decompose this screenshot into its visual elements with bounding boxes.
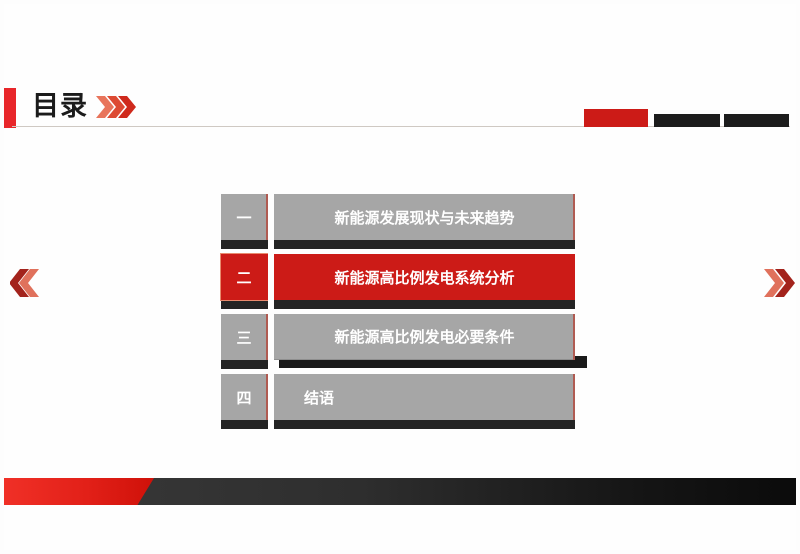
menu-item-3[interactable]: 三 新能源高比例发电必要条件 [221,314,577,360]
number-box-right-edge [266,254,268,300]
footer-bar [4,478,796,505]
text-box-shadow [274,420,575,429]
footer-bar-red-accent [4,478,154,505]
slide-content-area: 目录 [4,4,796,550]
menu-item-4[interactable]: 四 结语 [221,374,577,420]
number-box-shadow [221,360,268,369]
text-box-shadow [274,300,575,309]
text-box-right-edge [573,374,575,420]
number-box-shadow [221,420,268,429]
number-box-shadow [221,240,268,249]
menu-item-number: 一 [221,194,267,240]
menu-item-number: 四 [221,374,267,420]
text-box-right-edge [573,314,575,360]
text-box-right-edge [573,194,575,240]
menu-item-label: 结语 [274,374,575,420]
text-box-right-edge [573,254,575,300]
header-red-tab [4,88,16,128]
title-chevron-right-icon [96,94,138,120]
agenda-menu: 一 新能源发展现状与未来趋势 二 新能源高比例发电系统分析 三 新能源高比例发电 [221,194,577,434]
number-box-right-edge [266,374,268,420]
decoration-block-black-2 [724,114,789,127]
double-chevron-left-icon [10,266,56,300]
menu-item-number: 二 [221,254,267,300]
presentation-slide: 目录 [0,0,800,554]
number-box-right-edge [266,314,268,360]
menu-item-number: 三 [221,314,267,360]
text-box-shadow [274,240,575,249]
number-box-right-edge [266,194,268,240]
double-chevron-right-icon [756,266,796,300]
page-title: 目录 [32,89,88,123]
number-box-shadow [221,300,268,309]
menu-item-label: 新能源高比例发电系统分析 [274,254,575,300]
decoration-block-red [584,109,648,127]
menu-item-1[interactable]: 一 新能源发展现状与未来趋势 [221,194,577,240]
menu-item-label: 新能源发展现状与未来趋势 [274,194,575,240]
menu-item-label: 新能源高比例发电必要条件 [274,314,575,360]
decoration-block-black-1 [654,114,720,127]
menu-item-2[interactable]: 二 新能源高比例发电系统分析 [221,254,577,300]
